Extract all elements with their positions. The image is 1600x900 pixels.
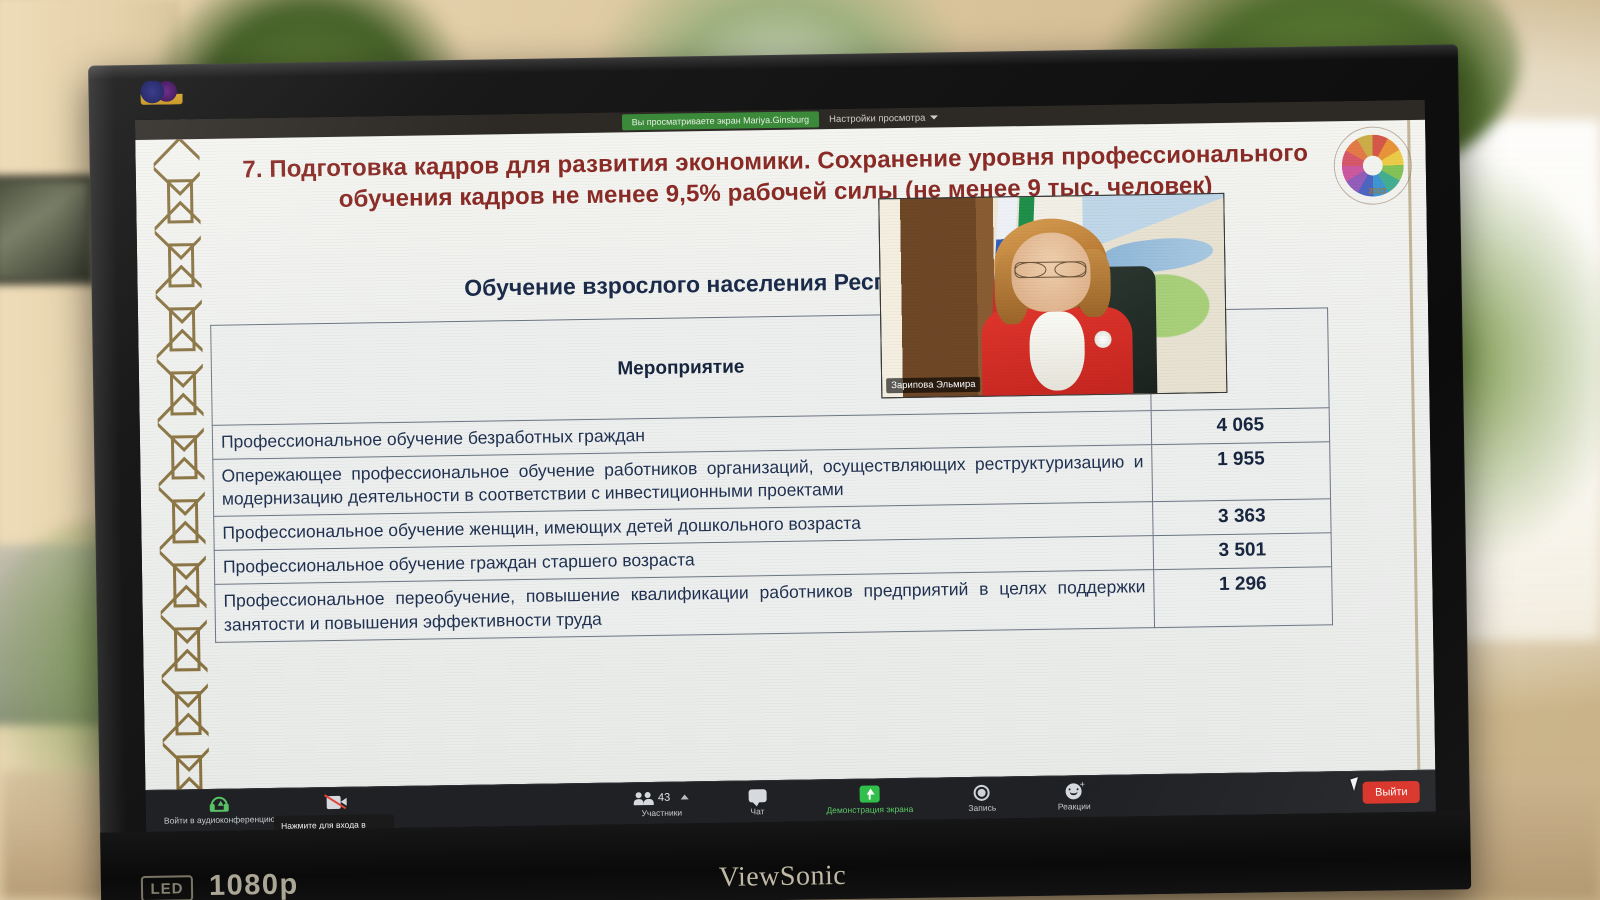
wall-picture [0,175,95,285]
record-button[interactable]: Запись [959,783,1005,813]
camera-off-icon [327,794,347,811]
people-icon: 43 [635,788,689,806]
ornament-border [153,139,209,790]
brand-logo: ViewSonic [719,860,847,894]
record-label: Запись [968,803,996,813]
participant-name-badge: Зарипова Эльмира [886,377,981,393]
chat-button[interactable]: Чат [734,787,780,817]
headset-icon [211,796,228,813]
reactions-button[interactable]: + Реакции [1051,782,1097,812]
participants-count: 43 [658,791,670,803]
cell-value: 4 065 [1151,408,1330,445]
share-screen-button[interactable]: Демонстрация экрана [826,785,913,815]
resolution-badge: 1080p [209,869,299,900]
participants-label: Участники [641,808,682,819]
cell-value: 3 501 [1153,533,1332,570]
cell-value: 3 363 [1153,499,1332,536]
screen: Вы просматриваете экран Mariya.Ginsburg … [135,100,1436,832]
cell-value: 1 955 [1152,442,1331,502]
leave-meeting-button[interactable]: Выйти [1363,780,1420,803]
monitor: Вы просматриваете экран Mariya.Ginsburg … [88,44,1471,900]
glasses-icon [1014,261,1086,278]
chat-icon [748,787,766,804]
reactions-icon: + [1066,782,1082,799]
chevron-up-icon[interactable] [680,794,688,799]
view-options-button[interactable]: Настройки просмотра [829,112,938,125]
decorative-sticker-icon [140,80,182,105]
video-thumbnail[interactable]: Зарипова Эльмира [878,193,1227,398]
join-audio-button[interactable]: Войти в аудиоконференцию [164,795,276,826]
emblem-year: 2023 [1368,186,1386,195]
speaker-scarf [1029,311,1085,391]
share-banner: Вы просматриваете экран Mariya.Ginsburg [622,111,820,130]
view-options-label: Настройки просмотра [829,112,925,125]
chat-label: Чат [750,806,764,816]
share-screen-icon [859,785,879,802]
participants-button[interactable]: 43 Участники [635,788,689,818]
record-icon [974,784,990,801]
cell-value: 1 296 [1154,567,1333,627]
share-screen-label: Демонстрация экрана [826,804,913,815]
presentation-slide: 2023 7. Подготовка кадров для развития э… [135,120,1435,790]
reactions-label: Реакции [1058,801,1091,812]
led-badge: LED [141,875,193,900]
join-audio-label: Войти в аудиоконференцию [164,814,275,826]
chevron-down-icon [930,115,938,119]
